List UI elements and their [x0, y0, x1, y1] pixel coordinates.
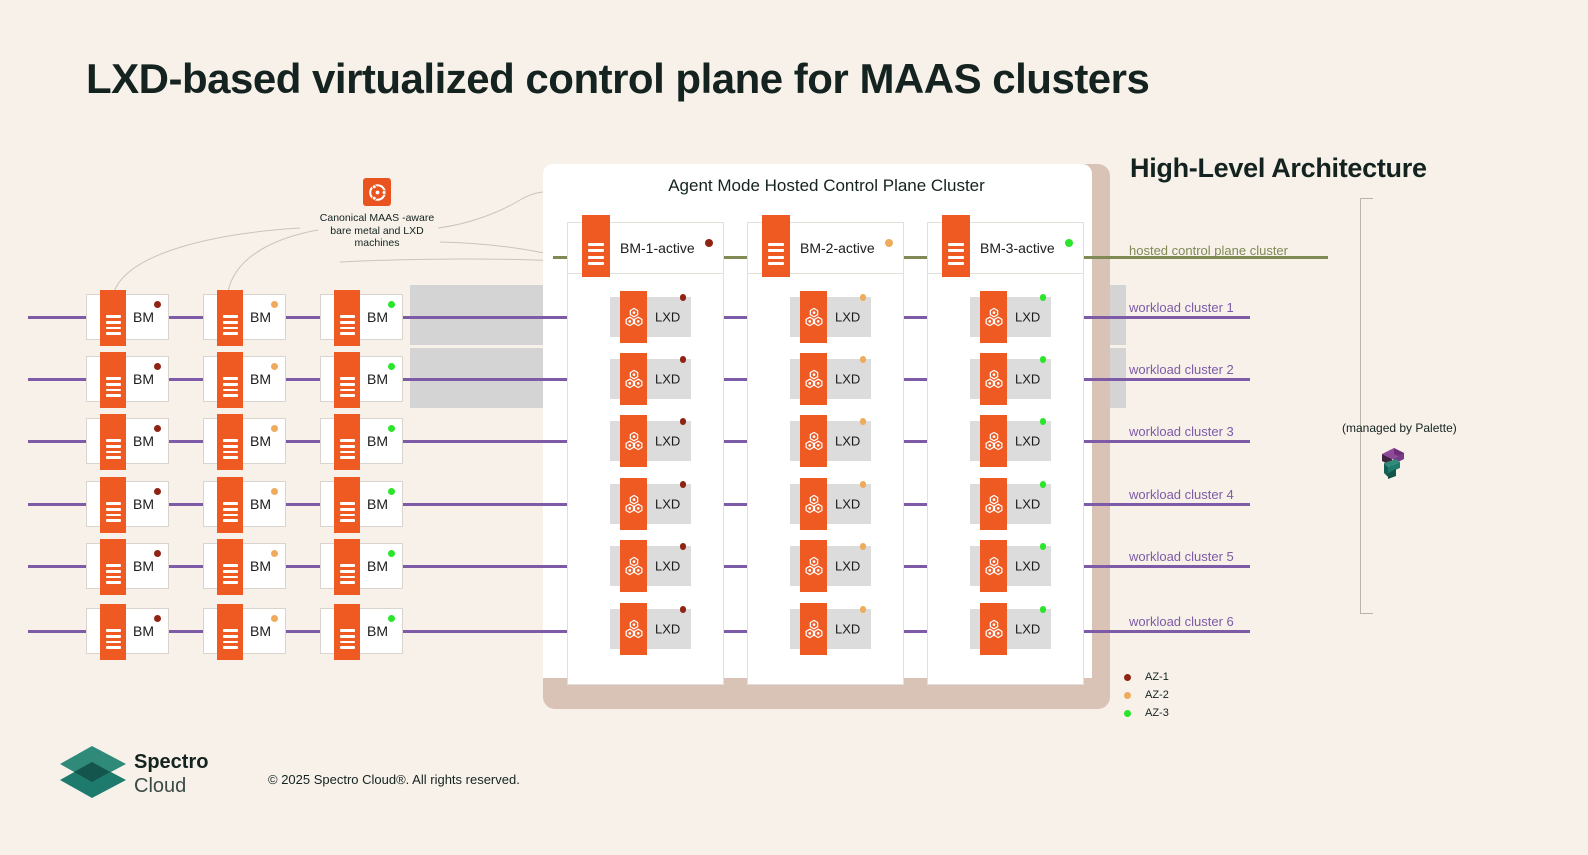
server-bar: [340, 508, 355, 511]
brand-name-line-1: Spectro: [134, 751, 208, 773]
server-bar: [223, 508, 238, 511]
az-status-dot: [680, 294, 687, 301]
lxd-node[interactable]: LXD: [790, 546, 871, 586]
bm-header-label: BM-1-active: [620, 240, 695, 256]
server-icon: [334, 477, 360, 533]
container-icon: [620, 603, 647, 655]
server-bar: [223, 321, 238, 324]
bare-metal-label: BM: [367, 623, 388, 639]
cluster-column-header-2[interactable]: BM-2-active: [747, 222, 904, 274]
container-icon: [980, 353, 1007, 405]
container-icon: [800, 603, 827, 655]
server-bar: [340, 456, 355, 459]
server-bar: [106, 383, 121, 386]
server-icon: [100, 290, 126, 346]
az-status-dot: [271, 550, 278, 557]
lxd-label: LXD: [835, 434, 860, 449]
az-status-dot: [1040, 543, 1047, 550]
lxd-label: LXD: [835, 622, 860, 637]
cluster-column-header-1[interactable]: BM-1-active: [567, 222, 724, 274]
az-status-dot: [860, 481, 867, 488]
server-bar: [223, 564, 238, 567]
server-bar: [223, 456, 238, 459]
server-bar: [340, 321, 355, 324]
server-icon: [334, 604, 360, 660]
container-icon: [620, 415, 647, 467]
server-bar: [340, 635, 355, 638]
cluster-column-header-3[interactable]: BM-3-active: [927, 222, 1084, 274]
server-bar: [106, 315, 121, 318]
maas-caption: Canonical MAAS -aware bare metal and LXD…: [316, 212, 438, 250]
server-bar: [340, 646, 355, 649]
server-bar: [948, 262, 964, 265]
lxd-node[interactable]: LXD: [610, 359, 691, 399]
server-bar: [340, 581, 355, 584]
server-bar: [340, 383, 355, 386]
server-bar: [106, 564, 121, 567]
right-label-7: workload cluster 6: [1129, 614, 1234, 629]
bare-metal-label: BM: [367, 371, 388, 387]
right-label-4: workload cluster 3: [1129, 424, 1234, 439]
lxd-node[interactable]: LXD: [970, 421, 1051, 461]
lxd-label: LXD: [835, 497, 860, 512]
az-status-dot: [154, 363, 161, 370]
server-icon: [217, 604, 243, 660]
az-status-dot: [388, 363, 395, 370]
az-status-dot: [154, 615, 161, 622]
container-icon: [980, 540, 1007, 592]
bare-metal-label: BM: [367, 558, 388, 574]
lxd-label: LXD: [835, 559, 860, 574]
bare-metal-label: BM: [367, 309, 388, 325]
az-status-dot: [1040, 356, 1047, 363]
legend-dot: [1124, 674, 1131, 681]
bare-metal-node[interactable]: BM: [320, 418, 403, 464]
lxd-node[interactable]: LXD: [970, 609, 1051, 649]
bare-metal-node[interactable]: BM: [203, 481, 286, 527]
cluster-title: Agent Mode Hosted Control Plane Cluster: [543, 176, 1110, 196]
lxd-node[interactable]: LXD: [610, 421, 691, 461]
server-bar: [340, 445, 355, 448]
server-bar: [106, 439, 121, 442]
server-bar: [340, 564, 355, 567]
lxd-label: LXD: [1015, 372, 1040, 387]
bare-metal-node[interactable]: BM: [203, 608, 286, 654]
server-bar: [106, 321, 121, 324]
lxd-node[interactable]: LXD: [970, 297, 1051, 337]
container-icon: [800, 540, 827, 592]
server-bar: [223, 445, 238, 448]
server-bar: [340, 519, 355, 522]
container-icon: [980, 415, 1007, 467]
bm-header-label: BM-2-active: [800, 240, 875, 256]
server-bar: [106, 570, 121, 573]
server-bar: [223, 646, 238, 649]
server-bar: [106, 502, 121, 505]
lxd-label: LXD: [655, 434, 680, 449]
bare-metal-label: BM: [250, 309, 271, 325]
az-status-dot: [860, 418, 867, 425]
bare-metal-node[interactable]: BM: [320, 608, 403, 654]
lxd-node[interactable]: LXD: [970, 546, 1051, 586]
az-status-dot: [860, 543, 867, 550]
server-bar: [340, 641, 355, 644]
bare-metal-label: BM: [133, 558, 154, 574]
az-status-dot: [271, 425, 278, 432]
bare-metal-label: BM: [250, 623, 271, 639]
lxd-label: LXD: [835, 372, 860, 387]
server-icon: [100, 352, 126, 408]
server-bar: [223, 315, 238, 318]
server-bar: [768, 249, 784, 252]
bare-metal-label: BM: [250, 558, 271, 574]
server-bar: [340, 332, 355, 335]
server-bar: [106, 514, 121, 517]
server-bar: [223, 576, 238, 579]
server-bar: [106, 332, 121, 335]
palette-logo-icon: [1378, 446, 1406, 480]
server-bar: [223, 389, 238, 392]
server-bar: [340, 514, 355, 517]
az-status-dot: [860, 294, 867, 301]
server-bar: [948, 256, 964, 259]
bare-metal-node[interactable]: BM: [203, 418, 286, 464]
az-status-dot: [885, 239, 893, 247]
server-bar: [106, 377, 121, 380]
lxd-node[interactable]: LXD: [610, 297, 691, 337]
server-icon: [217, 477, 243, 533]
az-status-dot: [271, 301, 278, 308]
server-bar: [223, 394, 238, 397]
server-icon: [100, 604, 126, 660]
az-status-dot: [1040, 606, 1047, 613]
server-bar: [588, 256, 604, 259]
server-bar: [340, 576, 355, 579]
bare-metal-node[interactable]: BM: [203, 543, 286, 589]
server-bar: [948, 249, 964, 252]
server-icon: [334, 414, 360, 470]
legend-label: AZ-2: [1145, 689, 1169, 701]
az-status-dot: [680, 356, 687, 363]
bare-metal-node[interactable]: BM: [203, 294, 286, 340]
server-bar: [948, 243, 964, 246]
lxd-node[interactable]: LXD: [610, 546, 691, 586]
server-bar: [340, 570, 355, 573]
server-bar: [223, 514, 238, 517]
server-bar: [223, 519, 238, 522]
right-label-5: workload cluster 4: [1129, 487, 1234, 502]
server-icon: [100, 414, 126, 470]
legend-dot: [1124, 710, 1131, 717]
server-bar: [106, 456, 121, 459]
bare-metal-label: BM: [133, 433, 154, 449]
az-status-dot: [680, 481, 687, 488]
server-bar: [106, 635, 121, 638]
bare-metal-node[interactable]: BM: [320, 543, 403, 589]
server-bar: [340, 451, 355, 454]
server-bar: [588, 262, 604, 265]
server-bar: [223, 581, 238, 584]
right-label-6: workload cluster 5: [1129, 549, 1234, 564]
legend-label: AZ-3: [1145, 707, 1169, 719]
server-bar: [768, 243, 784, 246]
bare-metal-label: BM: [250, 433, 271, 449]
server-icon: [762, 215, 790, 277]
container-icon: [980, 603, 1007, 655]
az-legend: AZ-1AZ-2AZ-3: [1124, 668, 1169, 722]
container-icon: [620, 540, 647, 592]
az-status-dot: [1040, 418, 1047, 425]
server-bar: [340, 394, 355, 397]
server-bar: [768, 256, 784, 259]
server-icon: [334, 539, 360, 595]
spectro-cloud-logo: Spectro Cloud: [60, 742, 208, 804]
container-icon: [980, 478, 1007, 530]
server-bar: [223, 635, 238, 638]
maas-callout: Canonical MAAS -aware bare metal and LXD…: [316, 178, 438, 250]
server-icon: [334, 290, 360, 346]
bare-metal-node[interactable]: BM: [203, 356, 286, 402]
server-icon: [100, 477, 126, 533]
lxd-node[interactable]: LXD: [610, 609, 691, 649]
az-status-dot: [154, 488, 161, 495]
az-status-dot: [388, 301, 395, 308]
lxd-label: LXD: [655, 310, 680, 325]
server-bar: [340, 389, 355, 392]
lxd-label: LXD: [655, 622, 680, 637]
server-bar: [106, 451, 121, 454]
control-plane-rail: [553, 256, 567, 259]
ubuntu-icon: [363, 178, 391, 206]
right-label-2: workload cluster 1: [1129, 300, 1234, 315]
server-bar: [106, 576, 121, 579]
legend-item-3: AZ-3: [1124, 704, 1169, 722]
bare-metal-label: BM: [133, 623, 154, 639]
server-bar: [106, 646, 121, 649]
server-icon: [942, 215, 970, 277]
server-bar: [340, 315, 355, 318]
bare-metal-label: BM: [250, 371, 271, 387]
maas-caption-line-1: Canonical MAAS -aware: [320, 212, 434, 224]
bare-metal-node[interactable]: BM: [86, 608, 169, 654]
brand-name-line-2: Cloud: [134, 775, 186, 797]
az-status-dot: [705, 239, 713, 247]
bare-metal-label: BM: [133, 371, 154, 387]
legend-label: AZ-1: [1145, 671, 1169, 683]
lxd-label: LXD: [1015, 310, 1040, 325]
lxd-label: LXD: [655, 497, 680, 512]
bm-header-label: BM-3-active: [980, 240, 1055, 256]
managed-bracket: [1360, 198, 1373, 614]
container-icon: [800, 478, 827, 530]
lxd-label: LXD: [655, 372, 680, 387]
lxd-node[interactable]: LXD: [790, 297, 871, 337]
server-bar: [223, 332, 238, 335]
bare-metal-node[interactable]: BM: [320, 294, 403, 340]
server-bar: [223, 451, 238, 454]
legend-item-2: AZ-2: [1124, 686, 1169, 704]
az-status-dot: [388, 488, 395, 495]
bare-metal-label: BM: [367, 433, 388, 449]
maas-caption-line-3: machines: [355, 237, 400, 249]
bare-metal-node[interactable]: BM: [86, 356, 169, 402]
server-bar: [340, 327, 355, 330]
legend-dot: [1124, 692, 1131, 699]
az-status-dot: [1065, 239, 1073, 247]
az-status-dot: [154, 301, 161, 308]
az-status-dot: [388, 615, 395, 622]
az-status-dot: [388, 425, 395, 432]
az-status-dot: [388, 550, 395, 557]
az-status-dot: [680, 606, 687, 613]
lxd-node[interactable]: LXD: [790, 359, 871, 399]
server-bar: [768, 262, 784, 265]
container-icon: [980, 291, 1007, 343]
az-status-dot: [860, 356, 867, 363]
az-status-dot: [1040, 294, 1047, 301]
az-status-dot: [680, 543, 687, 550]
server-icon: [100, 539, 126, 595]
az-status-dot: [1040, 481, 1047, 488]
container-icon: [620, 478, 647, 530]
server-icon: [217, 414, 243, 470]
bare-metal-label: BM: [133, 496, 154, 512]
server-bar: [106, 445, 121, 448]
bare-metal-node[interactable]: BM: [320, 356, 403, 402]
lxd-node[interactable]: LXD: [970, 359, 1051, 399]
lxd-label: LXD: [1015, 559, 1040, 574]
server-bar: [106, 508, 121, 511]
control-plane-rail: [723, 256, 749, 259]
server-bar: [340, 502, 355, 505]
bare-metal-node[interactable]: BM: [86, 294, 169, 340]
server-bar: [223, 641, 238, 644]
lxd-label: LXD: [1015, 434, 1040, 449]
lxd-label: LXD: [1015, 622, 1040, 637]
server-bar: [223, 570, 238, 573]
copyright-text: © 2025 Spectro Cloud®. All rights reserv…: [268, 772, 520, 787]
server-icon: [217, 352, 243, 408]
bare-metal-node[interactable]: BM: [86, 543, 169, 589]
server-bar: [340, 377, 355, 380]
managed-by-label: (managed by Palette): [1342, 421, 1457, 435]
server-bar: [588, 249, 604, 252]
az-status-dot: [860, 606, 867, 613]
server-bar: [223, 502, 238, 505]
lxd-node[interactable]: LXD: [790, 421, 871, 461]
maas-caption-line-2: bare metal and LXD: [330, 225, 423, 237]
az-status-dot: [154, 550, 161, 557]
bare-metal-label: BM: [367, 496, 388, 512]
right-label-1: hosted control plane cluster: [1129, 243, 1288, 258]
container-icon: [620, 291, 647, 343]
lxd-label: LXD: [655, 559, 680, 574]
lxd-node[interactable]: LXD: [610, 484, 691, 524]
bare-metal-node[interactable]: BM: [86, 418, 169, 464]
lxd-node[interactable]: LXD: [790, 609, 871, 649]
right-label-3: workload cluster 2: [1129, 362, 1234, 377]
container-icon: [800, 291, 827, 343]
lxd-label: LXD: [835, 310, 860, 325]
server-icon: [217, 290, 243, 346]
container-icon: [800, 353, 827, 405]
az-status-dot: [271, 615, 278, 622]
server-bar: [223, 327, 238, 330]
bare-metal-node[interactable]: BM: [86, 481, 169, 527]
server-bar: [223, 629, 238, 632]
server-bar: [106, 641, 121, 644]
server-bar: [106, 629, 121, 632]
lxd-label: LXD: [1015, 497, 1040, 512]
az-status-dot: [680, 418, 687, 425]
bare-metal-node[interactable]: BM: [320, 481, 403, 527]
server-bar: [340, 439, 355, 442]
az-status-dot: [271, 488, 278, 495]
server-bar: [223, 383, 238, 386]
container-icon: [620, 353, 647, 405]
lxd-node[interactable]: LXD: [790, 484, 871, 524]
server-bar: [106, 394, 121, 397]
server-bar: [223, 377, 238, 380]
server-bar: [106, 389, 121, 392]
server-icon: [217, 539, 243, 595]
server-bar: [340, 629, 355, 632]
bare-metal-label: BM: [133, 309, 154, 325]
server-bar: [223, 439, 238, 442]
az-status-dot: [271, 363, 278, 370]
server-icon: [334, 352, 360, 408]
server-bar: [588, 243, 604, 246]
diagram-canvas: LXD-based virtualized control plane for …: [0, 0, 1588, 855]
server-bar: [106, 327, 121, 330]
server-bar: [106, 519, 121, 522]
control-plane-rail: [903, 256, 929, 259]
az-status-dot: [154, 425, 161, 432]
legend-item-1: AZ-1: [1124, 668, 1169, 686]
container-icon: [800, 415, 827, 467]
bare-metal-label: BM: [250, 496, 271, 512]
lxd-node[interactable]: LXD: [970, 484, 1051, 524]
server-icon: [582, 215, 610, 277]
server-bar: [106, 581, 121, 584]
